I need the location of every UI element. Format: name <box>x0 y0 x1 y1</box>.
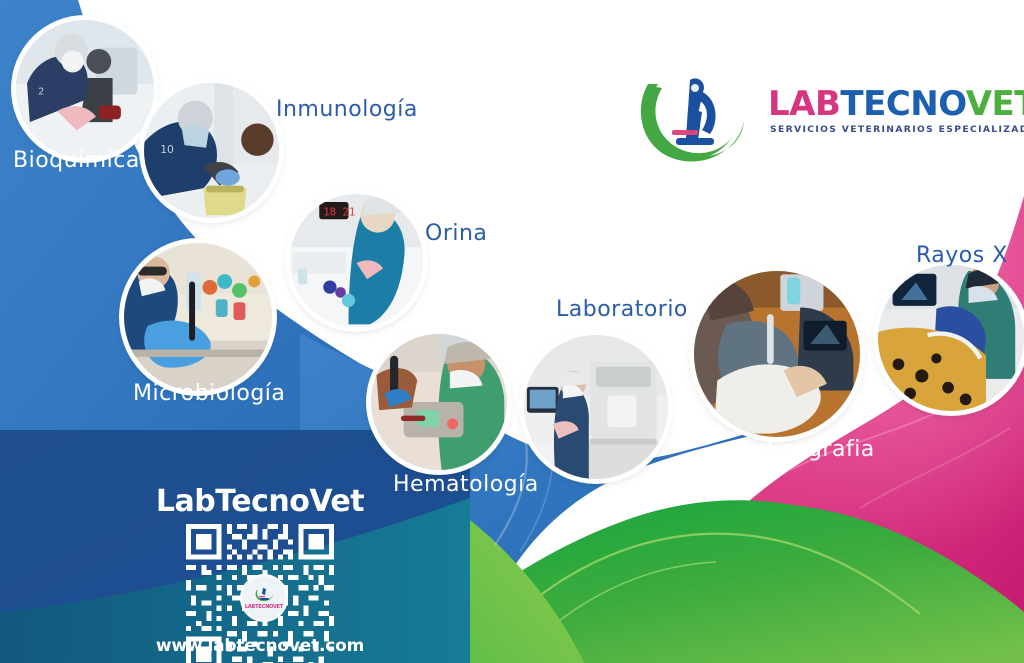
microscope-logo-icon <box>632 62 762 170</box>
service-photo-microbiologia[interactable] <box>124 243 272 391</box>
logo-word-vet: VET <box>966 84 1024 124</box>
service-label-laboratorio: Laboratorio <box>556 297 688 322</box>
logo-wordmark: LABTECNOVET <box>768 84 1024 124</box>
photo-ultrasound-on-dog <box>694 271 860 437</box>
service-photo-ecografia[interactable] <box>694 271 860 437</box>
brand-name: LabTecnoVet <box>150 484 370 519</box>
service-label-orina: Orina <box>425 221 487 246</box>
logo-tagline: SERVICIOS VETERINARIOS ESPECIALIZADOS <box>770 124 1024 135</box>
photo-technician-hematology-analyzer <box>371 334 507 470</box>
photo-xray-of-jaguar <box>878 265 1024 411</box>
svg-text:2: 2 <box>38 87 44 98</box>
service-label-hematologia: Hematología <box>393 472 539 497</box>
svg-text:18 21: 18 21 <box>323 205 355 218</box>
photo-lab-analyzer-room <box>524 335 668 479</box>
photo-technician-urine-samples: 18 21 <box>290 194 423 327</box>
poster-canvas: 2 Bioquímica 10 Inmunología 18 21 <box>0 0 1024 663</box>
service-photo-rayosx[interactable] <box>878 265 1024 411</box>
qr-center-label: LABTECNOVET <box>245 604 283 610</box>
logo-word-lab: LAB <box>768 84 840 124</box>
service-label-rayosx: Rayos X <box>916 243 1008 268</box>
service-label-inmunologia: Inmunología <box>276 97 418 122</box>
svg-text:10: 10 <box>160 143 174 156</box>
service-photo-hematologia[interactable] <box>371 334 507 470</box>
brand-block: LabTecnoVet <box>150 484 370 656</box>
service-label-ecografia: Ecografia <box>767 437 875 462</box>
photo-technician-microscope: 2 <box>16 20 154 158</box>
brand-logo[interactable]: LABTECNOVET SERVICIOS VETERINARIOS ESPEC… <box>632 62 952 172</box>
service-label-microbiologia: Microbiología <box>133 381 285 406</box>
photo-technician-culture-bench <box>124 243 272 391</box>
service-photo-laboratorio[interactable] <box>524 335 668 479</box>
website-url[interactable]: www.labtecnovet.com <box>134 636 386 656</box>
logo-word-tecno: TECNO <box>840 84 965 124</box>
mini-microscope-icon <box>254 586 274 604</box>
qr-center-logo: LABTECNOVET <box>242 576 286 620</box>
service-photo-orina[interactable]: 18 21 <box>290 194 423 327</box>
service-photo-inmunologia[interactable]: 10 <box>144 83 279 218</box>
service-photo-bioquimica[interactable]: 2 <box>16 20 154 158</box>
photo-technician-sample-container: 10 <box>144 83 279 218</box>
service-label-bioquimica: Bioquímica <box>13 148 140 173</box>
